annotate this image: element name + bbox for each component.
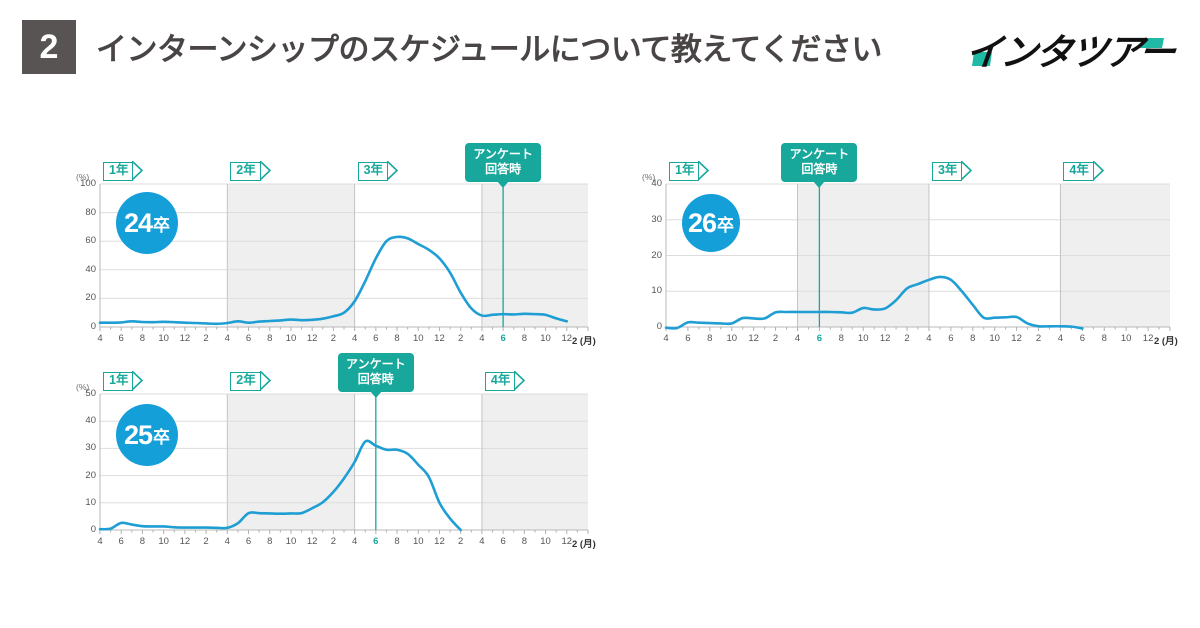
x-tick-label: 8 bbox=[698, 333, 722, 344]
year-badge-3年: 3年 bbox=[358, 162, 388, 181]
chevron-right-icon bbox=[260, 371, 271, 390]
x-axis-unit-label: 2 (月) bbox=[1154, 333, 1194, 347]
chevron-right-icon bbox=[514, 371, 525, 390]
y-tick-label: 10 bbox=[68, 497, 96, 508]
survey-time-badge: アンケート回答時 bbox=[781, 143, 857, 182]
x-tick-label: 6 bbox=[1070, 333, 1094, 344]
chart-25-graduates: (%)5040302010046810122468101224681012246… bbox=[60, 358, 600, 558]
graduation-year-circle: 26卒 bbox=[682, 194, 740, 252]
x-tick-label: 6 bbox=[676, 333, 700, 344]
chevron-right-icon bbox=[387, 161, 398, 180]
grad-year-number: 26 bbox=[688, 208, 716, 239]
chevron-right-icon bbox=[961, 161, 972, 180]
chevron-right-icon bbox=[132, 161, 143, 180]
x-tick-label: 4 bbox=[1048, 333, 1072, 344]
year-badge-label: 1年 bbox=[109, 373, 128, 387]
chevron-right-icon bbox=[1093, 161, 1104, 180]
y-tick-label: 100 bbox=[68, 178, 96, 189]
grad-year-number: 24 bbox=[124, 208, 152, 239]
x-tick-label: 2 bbox=[764, 333, 788, 344]
shaded-year-band bbox=[482, 184, 588, 327]
survey-badge-line1: アンケート bbox=[472, 147, 534, 162]
x-tick-label: 12 bbox=[873, 333, 897, 344]
y-tick-label: 40 bbox=[68, 264, 96, 275]
year-badge-label: 3年 bbox=[364, 163, 383, 177]
slide-root: 2 インターンシップのスケジュールについて教えてください インタツアー (%)1… bbox=[0, 0, 1200, 628]
y-tick-label: 20 bbox=[68, 470, 96, 481]
year-badge-label: 4年 bbox=[1069, 163, 1088, 177]
year-badge-2年: 2年 bbox=[230, 162, 260, 181]
y-tick-label: 80 bbox=[68, 207, 96, 218]
chevron-right-icon bbox=[698, 161, 709, 180]
year-badge-4年: 4年 bbox=[485, 372, 515, 391]
graduation-year-circle: 25卒 bbox=[116, 404, 178, 466]
survey-badge-line2: 回答時 bbox=[788, 162, 850, 177]
slide-number-badge: 2 bbox=[22, 20, 76, 74]
x-tick-label: 12 bbox=[1005, 333, 1029, 344]
y-tick-label: 60 bbox=[68, 235, 96, 246]
grad-year-number: 25 bbox=[124, 420, 152, 451]
badge-pointer-icon bbox=[813, 181, 825, 188]
y-tick-label: 30 bbox=[634, 214, 662, 225]
x-tick-label: 10 bbox=[983, 333, 1007, 344]
x-tick-label: 8 bbox=[1092, 333, 1116, 344]
y-tick-label: 0 bbox=[68, 524, 96, 535]
year-badge-label: 4年 bbox=[491, 373, 510, 387]
chart-26-graduates: (%)4030201004681012246810122468101224681… bbox=[632, 140, 1182, 355]
year-badge-4年: 4年 bbox=[1063, 162, 1093, 181]
year-badge-1年: 1年 bbox=[103, 372, 133, 391]
survey-badge-line1: アンケート bbox=[788, 147, 850, 162]
x-tick-label: 8 bbox=[829, 333, 853, 344]
brand-logo: インタツアー bbox=[966, 22, 1176, 70]
survey-badge-line2: 回答時 bbox=[345, 372, 407, 387]
badge-pointer-icon bbox=[370, 391, 382, 398]
y-tick-label: 0 bbox=[68, 321, 96, 332]
y-tick-label: 30 bbox=[68, 442, 96, 453]
logo-text: インタツアー bbox=[963, 22, 1176, 76]
grad-year-suffix: 卒 bbox=[153, 423, 170, 448]
x-tick-label: 12 bbox=[742, 333, 766, 344]
survey-badge-line2: 回答時 bbox=[472, 162, 534, 177]
page-title: インターンシップのスケジュールについて教えてください bbox=[96, 24, 882, 69]
shaded-year-band bbox=[482, 394, 588, 530]
year-badge-label: 2年 bbox=[236, 373, 255, 387]
year-badge-1年: 1年 bbox=[103, 162, 133, 181]
shaded-year-band bbox=[227, 394, 354, 530]
y-tick-label: 40 bbox=[634, 178, 662, 189]
shaded-year-band bbox=[227, 184, 354, 327]
survey-badge-line1: アンケート bbox=[345, 357, 407, 372]
survey-time-badge: アンケート回答時 bbox=[465, 143, 541, 182]
year-badge-1年: 1年 bbox=[669, 162, 699, 181]
graduation-year-circle: 24卒 bbox=[116, 192, 178, 254]
x-tick-label: 4 bbox=[654, 333, 678, 344]
x-tick-label: 6 bbox=[807, 333, 831, 344]
x-tick-label: 10 bbox=[720, 333, 744, 344]
x-axis-unit-label: 2 (月) bbox=[572, 333, 612, 347]
y-tick-label: 50 bbox=[68, 388, 96, 399]
x-tick-label: 2 bbox=[895, 333, 919, 344]
x-axis-unit-label: 2 (月) bbox=[572, 536, 612, 550]
x-tick-label: 4 bbox=[917, 333, 941, 344]
chevron-right-icon bbox=[260, 161, 271, 180]
survey-time-badge: アンケート回答時 bbox=[338, 353, 414, 392]
year-badge-2年: 2年 bbox=[230, 372, 260, 391]
badge-pointer-icon bbox=[497, 181, 509, 188]
y-tick-label: 20 bbox=[68, 292, 96, 303]
grad-year-suffix: 卒 bbox=[717, 211, 734, 236]
chart-24-graduates: (%)1008060402004681012246810122468101224… bbox=[60, 140, 600, 355]
slide-header: 2 インターンシップのスケジュールについて教えてください インタツアー bbox=[0, 0, 1200, 92]
y-tick-label: 40 bbox=[68, 415, 96, 426]
year-badge-label: 1年 bbox=[675, 163, 694, 177]
x-tick-label: 6 bbox=[939, 333, 963, 344]
year-badge-label: 1年 bbox=[109, 163, 128, 177]
x-tick-label: 10 bbox=[1114, 333, 1138, 344]
y-tick-label: 0 bbox=[634, 321, 662, 332]
year-badge-3年: 3年 bbox=[932, 162, 962, 181]
chevron-right-icon bbox=[132, 371, 143, 390]
grad-year-suffix: 卒 bbox=[153, 211, 170, 236]
x-tick-label: 4 bbox=[785, 333, 809, 344]
year-badge-label: 3年 bbox=[938, 163, 957, 177]
year-badge-label: 2年 bbox=[236, 163, 255, 177]
x-tick-label: 2 bbox=[1027, 333, 1051, 344]
y-tick-label: 20 bbox=[634, 250, 662, 261]
y-tick-label: 10 bbox=[634, 285, 662, 296]
x-tick-label: 10 bbox=[851, 333, 875, 344]
x-tick-label: 8 bbox=[961, 333, 985, 344]
